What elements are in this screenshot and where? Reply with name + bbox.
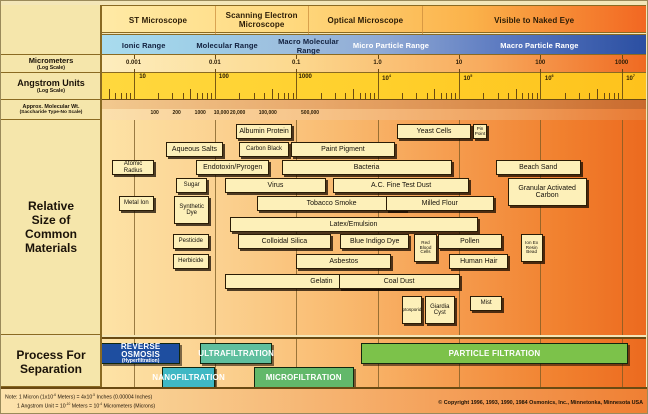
angstrom-minor-tick bbox=[532, 93, 533, 100]
decade-gridline bbox=[540, 120, 541, 335]
angstrom-minor-tick bbox=[345, 93, 346, 100]
angstrom-major-tick bbox=[378, 73, 379, 100]
angstrom-minor-tick bbox=[207, 93, 208, 100]
angstrom-minor-tick bbox=[434, 89, 435, 100]
angstrom-minor-tick bbox=[121, 93, 122, 100]
angstrom-major-tick bbox=[296, 73, 297, 100]
material-box: Pin Point bbox=[473, 124, 488, 139]
angstrom-minor-tick bbox=[528, 93, 529, 100]
angstrom-minor-tick bbox=[353, 89, 354, 100]
angstrom-minor-tick bbox=[365, 93, 366, 100]
microscope-band-0: ST Microscope bbox=[101, 6, 215, 34]
angstrom-minor-tick bbox=[402, 93, 403, 100]
angstrom-minor-tick bbox=[130, 93, 131, 100]
molecular-weight-strip bbox=[101, 109, 646, 120]
angstrom-minor-tick bbox=[254, 93, 255, 100]
process-bar: PARTICLE FILTRATION bbox=[361, 343, 627, 364]
material-box: Carbon Black bbox=[239, 142, 289, 157]
angstrom-minor-tick bbox=[416, 93, 417, 100]
process-bar: REVERSE OSMOSIS(Hyperfiltration) bbox=[101, 343, 180, 364]
size-range-4: Macro Particle Range bbox=[433, 35, 646, 56]
angstrom-minor-tick bbox=[360, 93, 361, 100]
micrometers-tick-label: 1.0 bbox=[373, 60, 381, 66]
material-box: Aqueous Salts bbox=[166, 142, 223, 157]
angstrom-minor-tick bbox=[374, 93, 375, 100]
micrometers-tick bbox=[540, 55, 541, 59]
angstrom-minor-tick bbox=[614, 93, 615, 100]
material-box: Metal Ion bbox=[119, 196, 154, 211]
left-molecular-weight-subtitle: (Saccharide Type-No Scale) bbox=[20, 110, 83, 115]
angstrom-minor-tick bbox=[498, 93, 499, 100]
micrometers-tick-label: 10 bbox=[456, 60, 463, 66]
material-box: Pesticide bbox=[173, 234, 210, 249]
footer-copyright: © Copyright 1996, 1993, 1990, 1984 Osmon… bbox=[438, 400, 643, 406]
material-box: Milled Flour bbox=[386, 196, 494, 211]
material-box: Granular Activated Carbon bbox=[508, 178, 587, 206]
angstrom-minor-tick bbox=[451, 93, 452, 100]
microscope-band-divider bbox=[308, 6, 309, 34]
angstrom-minor-tick bbox=[537, 93, 538, 100]
angstrom-major-tick bbox=[622, 73, 623, 100]
material-box: Beach Sand bbox=[496, 160, 581, 175]
material-box: Pollen bbox=[438, 234, 502, 249]
micrometers-tick bbox=[215, 55, 216, 59]
process-bar: ULTRAFILTRATION bbox=[200, 343, 272, 364]
left-process: Process For Separation bbox=[1, 337, 101, 387]
microscope-band-3: Visible to Naked Eye bbox=[422, 6, 646, 34]
micrometers-tick-label: 0.1 bbox=[292, 60, 300, 66]
material-box: Endotoxin/Pyrogen bbox=[196, 160, 269, 175]
angstrom-minor-tick bbox=[522, 93, 523, 100]
left-relative-size: Relative Size of Common Materials bbox=[1, 120, 101, 335]
angstrom-tick-label: 107 bbox=[626, 74, 635, 82]
angstrom-minor-tick bbox=[239, 93, 240, 100]
angstrom-minor-tick bbox=[516, 89, 517, 100]
left-process-title: Process For Separation bbox=[16, 348, 85, 376]
left-angstrom-title: Angstrom Units bbox=[17, 78, 85, 88]
angstrom-minor-tick bbox=[565, 93, 566, 100]
micrometers-tick bbox=[622, 55, 623, 59]
molecular-weight-tick-label: 1000 bbox=[195, 110, 206, 116]
molecular-weight-tick-label: 10,000 bbox=[214, 110, 229, 116]
molecular-weight-tick-label: 20,000 bbox=[230, 110, 245, 116]
material-box: Albumin Protein bbox=[236, 124, 292, 139]
left-micrometers: Micrometers(Log Scale) bbox=[1, 55, 101, 73]
angstrom-minor-tick bbox=[109, 89, 110, 100]
angstrom-minor-tick bbox=[197, 93, 198, 100]
angstrom-minor-tick bbox=[446, 93, 447, 100]
angstrom-minor-tick bbox=[183, 93, 184, 100]
size-range-0: Ionic Range bbox=[101, 35, 186, 56]
footer-note-line-1: Note: 1 Micron (1x10-6 Meters) = 4x10-5 … bbox=[5, 393, 152, 402]
material-box: Paint Pigment bbox=[291, 142, 394, 157]
angstrom-tick-label: 105 bbox=[464, 74, 473, 82]
material-box: Coal Dust bbox=[339, 274, 460, 289]
angstrom-minor-tick bbox=[597, 89, 598, 100]
material-box: Mist bbox=[470, 296, 502, 311]
micrometers-tick bbox=[459, 55, 460, 59]
material-box: Colloidal Silica bbox=[238, 234, 331, 249]
left-micrometers-subtitle: (Log Scale) bbox=[37, 65, 65, 71]
left-angstrom-subtitle: (Log Scale) bbox=[37, 88, 65, 94]
angstrom-major-tick bbox=[540, 73, 541, 100]
micrometers-tick-label: 0.01 bbox=[209, 60, 221, 66]
angstrom-minor-tick bbox=[579, 93, 580, 100]
angstrom-tick-label: 1000 bbox=[299, 74, 312, 80]
angstrom-minor-tick bbox=[284, 93, 285, 100]
angstrom-minor-tick bbox=[441, 93, 442, 100]
size-range-1: Molecular Range bbox=[186, 35, 267, 56]
process-bar-label: MICROFILTRATION bbox=[266, 374, 342, 382]
angstrom-minor-tick bbox=[483, 93, 484, 100]
micrometers-tick-label: 100 bbox=[535, 60, 545, 66]
angstrom-minor-tick bbox=[609, 93, 610, 100]
left-angstrom: Angstrom Units(Log Scale) bbox=[1, 73, 101, 100]
angstrom-minor-tick bbox=[604, 93, 605, 100]
footer-note-line-2: 1 Angstrom Unit = 10-10 Meters = 10-4 Mi… bbox=[17, 402, 155, 411]
material-box: Herbicide bbox=[173, 254, 210, 269]
angstrom-axis: 1101001000104105106107 bbox=[101, 73, 646, 100]
material-box: A.C. Fine Test Dust bbox=[333, 178, 470, 193]
process-bar-sublabel: (Hyperfiltration) bbox=[122, 359, 160, 364]
angstrom-minor-tick bbox=[126, 93, 127, 100]
angstrom-tick-label: 106 bbox=[545, 74, 554, 82]
molecular-weight-tick-label: 100 bbox=[151, 110, 159, 116]
angstrom-minor-tick bbox=[455, 93, 456, 100]
process-bar: MICROFILTRATION bbox=[254, 367, 354, 387]
angstrom-minor-tick bbox=[158, 93, 159, 100]
process-bar-label: NANOFILTRATION bbox=[152, 374, 225, 382]
left-relative-size-title: Relative Size of Common Materials bbox=[25, 199, 77, 255]
angstrom-minor-tick bbox=[202, 93, 203, 100]
material-box: Human Hair bbox=[449, 254, 508, 269]
angstrom-minor-tick bbox=[427, 93, 428, 100]
angstrom-tick-label: 104 bbox=[382, 74, 391, 82]
process-bar-label: ULTRAFILTRATION bbox=[198, 350, 274, 358]
material-box: Synthetic Dye bbox=[174, 196, 209, 224]
microscope-band-row: ST MicroscopeScanning Electron Microscop… bbox=[101, 5, 646, 33]
material-box: Tobacco Smoke bbox=[257, 196, 406, 211]
angstrom-minor-tick bbox=[335, 93, 336, 100]
material-box: Bacteria bbox=[282, 160, 452, 175]
material-box: Yeast Cells bbox=[397, 124, 471, 139]
micrometers-tick bbox=[378, 55, 379, 59]
materials-body: Albumin ProteinYeast CellsPin PointAqueo… bbox=[101, 120, 646, 335]
material-box: Cryptosporidium bbox=[402, 296, 422, 324]
microscope-band-2: Optical Microscope bbox=[308, 6, 422, 34]
material-box: Atomic Radius bbox=[112, 160, 153, 175]
filtration-spectrum-chart: ST MicroscopeScanning Electron Microscop… bbox=[0, 0, 648, 414]
molecular-weight-tick-label: 200 bbox=[172, 110, 180, 116]
angstrom-minor-tick bbox=[370, 93, 371, 100]
material-box: Latex/Emulsion bbox=[230, 217, 478, 232]
process-body: REVERSE OSMOSIS(Hyperfiltration)ULTRAFIL… bbox=[101, 337, 646, 387]
size-range-2: Macro Molecular Range bbox=[268, 35, 349, 56]
angstrom-minor-tick bbox=[264, 93, 265, 100]
angstrom-minor-tick bbox=[589, 93, 590, 100]
angstrom-major-tick bbox=[459, 73, 460, 100]
process-bar: NANOFILTRATION bbox=[162, 367, 215, 387]
angstrom-tick-label: 10 bbox=[139, 74, 146, 80]
material-box: Sugar bbox=[176, 178, 208, 193]
decade-gridline bbox=[134, 120, 135, 335]
angstrom-minor-tick bbox=[288, 93, 289, 100]
angstrom-minor-tick bbox=[272, 89, 273, 100]
molecular-weight-tick-label: 500,000 bbox=[301, 110, 319, 116]
molecular-weight-axis: 100200100010,00020,000100,000500,000 bbox=[101, 100, 646, 120]
process-bar-label: PARTICLE FILTRATION bbox=[449, 350, 541, 358]
micrometers-tick-label: 1000 bbox=[615, 60, 628, 66]
decade-gridline bbox=[622, 120, 623, 335]
material-box: Red Blood Cells bbox=[414, 234, 437, 262]
angstrom-minor-tick bbox=[190, 89, 191, 100]
left-micrometers-title: Micrometers bbox=[29, 56, 74, 65]
size-range-3: Micro Particle Range bbox=[349, 35, 433, 56]
material-box: Blue Indigo Dye bbox=[340, 234, 409, 249]
material-box: Ion Ex Resin Bead bbox=[521, 234, 543, 262]
microscope-band-divider bbox=[422, 6, 423, 34]
angstrom-minor-tick bbox=[172, 93, 173, 100]
microscope-band-divider bbox=[215, 6, 216, 34]
angstrom-minor-tick bbox=[508, 93, 509, 100]
angstrom-minor-tick bbox=[115, 93, 116, 100]
angstrom-major-tick bbox=[215, 73, 216, 100]
angstrom-minor-tick bbox=[211, 93, 212, 100]
process-bar-label: REVERSE OSMOSIS bbox=[102, 343, 179, 359]
left-header-spacer bbox=[1, 5, 101, 55]
angstrom-minor-tick bbox=[293, 93, 294, 100]
material-box: Asbestos bbox=[296, 254, 391, 269]
angstrom-tick-label: 100 bbox=[219, 74, 229, 80]
micrometers-axis: 0.0010.010.11.0101001000 bbox=[101, 55, 646, 73]
angstrom-major-tick bbox=[134, 73, 135, 100]
left-molecular-weight: Approx. Molecular Wt.(Saccharide Type-No… bbox=[1, 100, 101, 120]
molecular-weight-tick-label: 100,000 bbox=[259, 110, 277, 116]
footer-strip: Note: 1 Micron (1x10-6 Meters) = 4x10-5 … bbox=[1, 387, 648, 413]
size-range-row: Ionic RangeMolecular RangeMacro Molecula… bbox=[101, 34, 646, 55]
microscope-band-1: Scanning Electron Microscope bbox=[215, 6, 309, 34]
material-box: Giardia Cyst bbox=[425, 296, 455, 324]
material-box: Virus bbox=[225, 178, 327, 193]
angstrom-minor-tick bbox=[278, 93, 279, 100]
angstrom-minor-tick bbox=[321, 93, 322, 100]
micrometers-tick bbox=[134, 55, 135, 59]
left-column-divider bbox=[100, 5, 102, 387]
micrometers-tick-label: 0.001 bbox=[126, 60, 141, 66]
angstrom-minor-tick bbox=[618, 93, 619, 100]
micrometers-tick bbox=[296, 55, 297, 59]
